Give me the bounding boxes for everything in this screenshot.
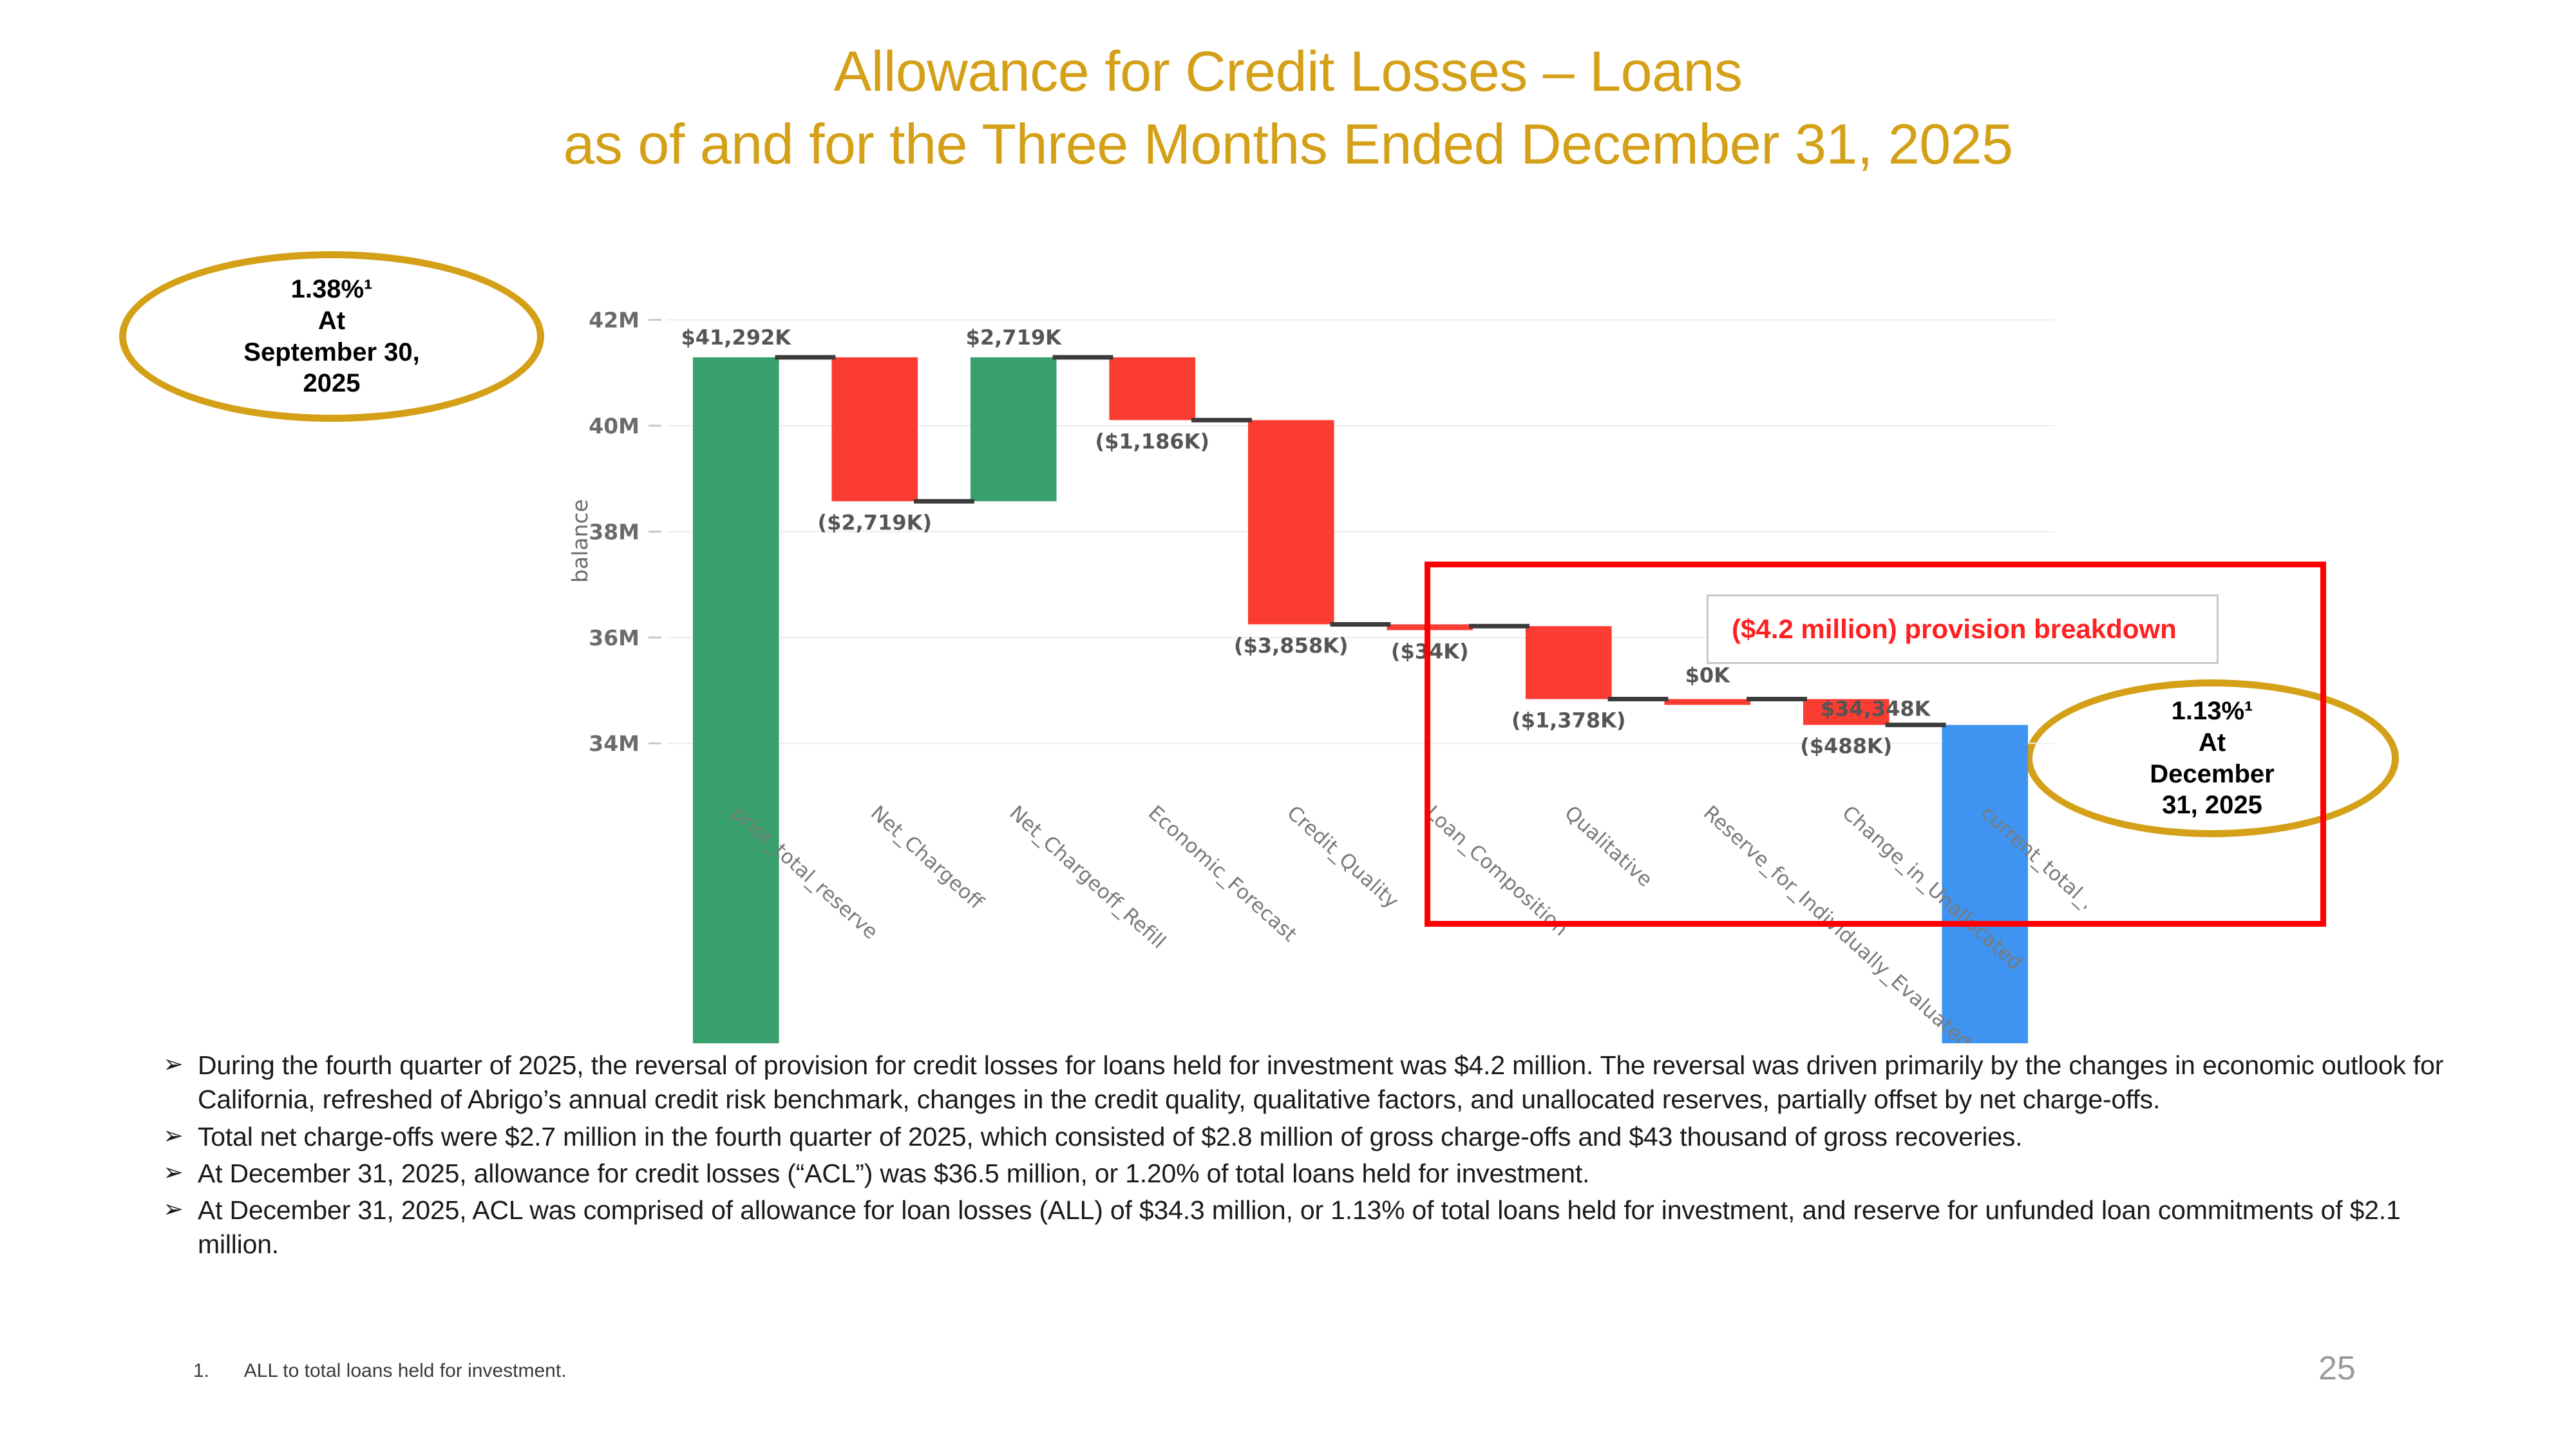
bullet-text: Total net charge-offs were $2.7 million …: [198, 1122, 2022, 1151]
x-axis-category-label: Economic_Forecast: [1144, 801, 1302, 946]
bullet-text: At December 31, 2025, ACL was comprised …: [198, 1195, 2401, 1259]
bullet-item: ➢At December 31, 2025, ACL was comprised…: [158, 1193, 2450, 1262]
chart-bar: [971, 357, 1057, 501]
chart-bar: [693, 357, 779, 1043]
footnote-text: ALL to total loans held for investment.: [244, 1360, 567, 1381]
chart-bar: [1248, 420, 1334, 624]
bullet-text: During the fourth quarter of 2025, the r…: [198, 1050, 2443, 1114]
y-axis-tick-label: 42M: [589, 308, 639, 333]
y-axis-title: balance: [567, 499, 592, 583]
bar-data-label: ($1,378K): [1511, 708, 1626, 733]
chart-x-axis-labels: prior_total_reserveNet_ChargeoffNet_Char…: [727, 801, 2087, 1043]
waterfall-chart: 34M36M38M40M42M $41,292K($2,719K)$2,719K…: [554, 270, 2087, 1043]
bar-data-label: ($1,186K): [1095, 429, 1209, 453]
bar-data-label: $0K: [1685, 663, 1731, 688]
y-axis-tick-label: 38M: [589, 519, 639, 544]
page-number: 25: [2318, 1349, 2356, 1388]
bullet-arrow-icon: ➢: [163, 1157, 184, 1188]
bullet-item: ➢At December 31, 2025, allowance for cre…: [158, 1157, 2450, 1191]
bullet-arrow-icon: ➢: [163, 1120, 184, 1151]
chart-bar: [1387, 624, 1473, 630]
bar-data-label: ($2,719K): [817, 510, 932, 535]
bullet-item: ➢Total net charge-offs were $2.7 million…: [158, 1120, 2450, 1154]
footnote-number: 1.: [193, 1360, 240, 1382]
bar-data-label: $41,292K: [681, 325, 791, 350]
bullet-list: ➢During the fourth quarter of 2025, the …: [158, 1048, 2450, 1265]
bar-data-label: ($3,858K): [1234, 633, 1349, 658]
y-axis-tick-label: 34M: [589, 731, 639, 756]
bullet-arrow-icon: ➢: [163, 1193, 184, 1225]
bar-data-label: $34,348K: [1821, 697, 1931, 721]
page-title: Allowance for Credit Losses – Loans as o…: [0, 35, 2576, 180]
chart-bar: [1664, 699, 1750, 705]
y-axis-tick-label: 40M: [589, 413, 639, 439]
x-axis-category-label: Net_Chargeoff: [866, 801, 988, 914]
x-axis-category-label: Credit_Quality: [1282, 801, 1403, 913]
x-axis-category-label: Net_Chargeoff_Refill: [1005, 801, 1170, 953]
x-axis-category-label: Loan_Composition: [1421, 801, 1573, 940]
y-axis-tick-label: 36M: [589, 625, 639, 650]
provision-annotation-box: ($4.2 million) provision breakdown: [1707, 594, 2219, 664]
bar-data-label: ($34K): [1391, 639, 1469, 663]
footnote: 1. ALL to total loans held for investmen…: [193, 1360, 567, 1382]
x-axis-category-label: Qualitative: [1560, 801, 1656, 891]
chart-connectors: [775, 357, 1946, 725]
bullet-text: At December 31, 2025, allowance for cred…: [198, 1159, 1589, 1188]
bar-data-label: $2,719K: [966, 325, 1062, 350]
chart-y-axis: 34M36M38M40M42M: [589, 308, 661, 757]
provision-annotation-text: ($4.2 million) provision breakdown: [1732, 614, 2177, 645]
bullet-arrow-icon: ➢: [163, 1048, 184, 1080]
bullet-item: ➢During the fourth quarter of 2025, the …: [158, 1048, 2450, 1117]
callout-ellipse-september: 1.38%¹ At September 30, 2025: [119, 251, 544, 422]
bar-data-label: ($488K): [1800, 734, 1892, 759]
chart-bar: [831, 357, 918, 501]
chart-bar: [1942, 725, 2028, 1043]
chart-bar: [1109, 357, 1195, 420]
chart-bar: [1526, 626, 1612, 699]
